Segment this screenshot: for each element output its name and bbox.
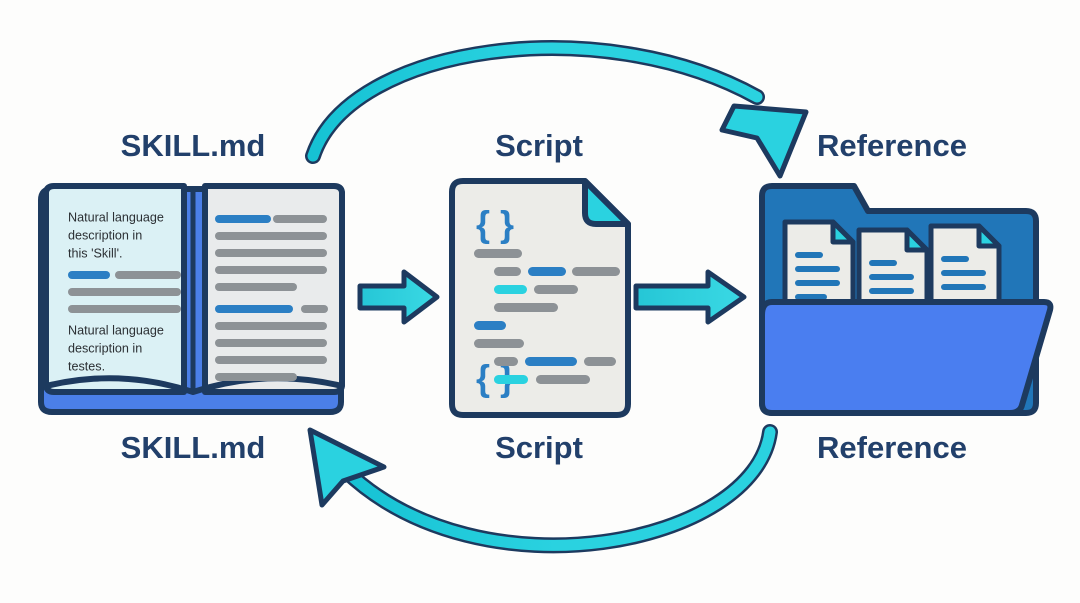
book-bar	[215, 322, 327, 330]
code-line	[584, 357, 616, 366]
book-text-line: Natural language	[68, 210, 164, 224]
code-line	[494, 375, 528, 384]
book-bar	[215, 373, 297, 381]
script-doc-folded-corner	[585, 181, 628, 224]
label-script-top: Script	[495, 128, 583, 163]
label-skill-md-top: SKILL.md	[121, 128, 266, 163]
book-bar	[215, 232, 327, 240]
folder-document	[931, 226, 999, 310]
book-bar	[68, 288, 181, 296]
book-bar	[215, 249, 327, 257]
code-line	[474, 321, 506, 330]
book-bar	[68, 305, 181, 313]
folder-front-flap	[762, 302, 1050, 413]
book-text-line: description in	[68, 341, 142, 355]
book-bar	[68, 271, 110, 279]
code-line	[572, 267, 620, 276]
book-bar	[215, 283, 297, 291]
arrow-book-to-script	[360, 272, 437, 322]
arrow-script-to-folder	[636, 272, 744, 322]
code-line	[494, 357, 518, 366]
book-bar	[115, 271, 181, 279]
brace-top-icon: { }	[476, 204, 514, 245]
book-text-line: description in	[68, 228, 142, 242]
book-text-line: this 'Skill'.	[68, 246, 123, 260]
code-line	[536, 375, 590, 384]
code-line	[494, 267, 521, 276]
book-text-line: Natural language	[68, 323, 164, 337]
book-bar	[301, 305, 328, 313]
label-reference-bottom: Reference	[817, 430, 967, 465]
book-bar	[215, 215, 271, 223]
script-document-icon: { } { }	[452, 181, 628, 415]
code-line	[494, 285, 527, 294]
book-bar	[215, 339, 327, 347]
label-script-bottom: Script	[495, 430, 583, 465]
skill-workflow-diagram: SKILL.md Script Reference SKILL.md Scrip…	[0, 0, 1080, 603]
label-reference-top: Reference	[817, 128, 967, 163]
code-line	[525, 357, 577, 366]
book-text-line: testes.	[68, 359, 105, 373]
code-line	[528, 267, 566, 276]
reference-folder-icon	[762, 186, 1050, 413]
code-line	[534, 285, 578, 294]
book-bar	[215, 305, 293, 313]
book-bar	[215, 266, 327, 274]
code-line	[494, 303, 558, 312]
book-bar	[273, 215, 327, 223]
label-skill-md-bottom: SKILL.md	[121, 430, 266, 465]
book-bar	[215, 356, 327, 364]
skill-md-book-icon: Natural language description in this 'Sk…	[41, 186, 342, 412]
diagram-canvas: SKILL.md Script Reference SKILL.md Scrip…	[0, 0, 1080, 603]
code-line	[474, 339, 524, 348]
code-line	[474, 249, 522, 258]
